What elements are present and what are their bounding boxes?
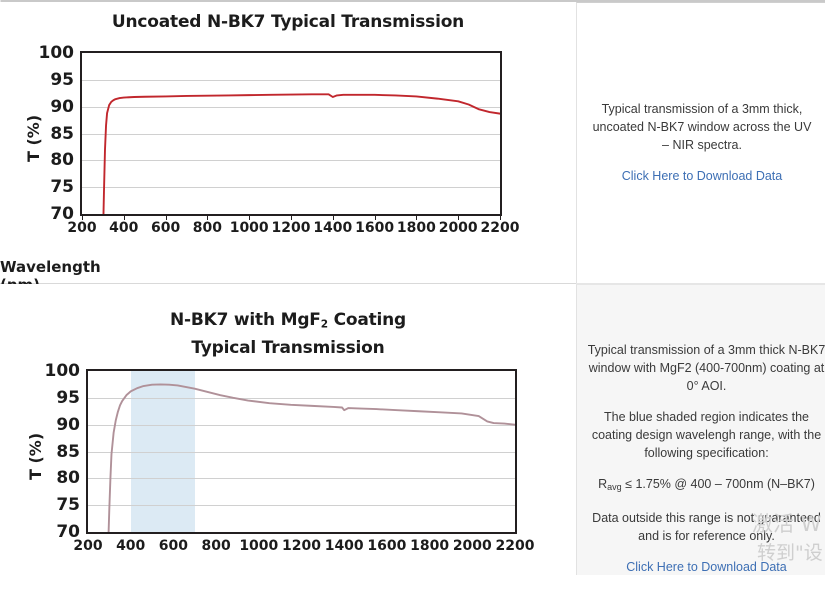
- coated-description-paragraph-3: Data outside this range is not guarantee…: [587, 509, 825, 545]
- x-tick-label: 2200: [490, 539, 540, 553]
- coated-chart-title-line1: N-BK7 with MgF2 Coating: [0, 309, 576, 337]
- spec-rest: ≤ 1.75% @ 400 – 700nm (N–BK7): [622, 477, 815, 491]
- y-tick-label: 80: [44, 470, 80, 487]
- coated-title-subscript: 2: [321, 319, 328, 331]
- x-tick-mark: [333, 216, 334, 220]
- coated-spec-line: Ravg ≤ 1.75% @ 400 – 700nm (N–BK7): [587, 475, 825, 496]
- uncoated-description-text: Typical transmission of a 3mm thick, unc…: [591, 100, 813, 198]
- coated-plot-box: [86, 369, 517, 534]
- coated-title-pre: N-BK7 with MgF: [170, 310, 321, 330]
- uncoated-download-link[interactable]: Click Here to Download Data: [591, 167, 813, 185]
- transmission-curve: [82, 53, 500, 214]
- coated-y-axis-label: T (%): [26, 433, 45, 480]
- x-tick-mark: [166, 216, 167, 220]
- coated-chart-title: N-BK7 with MgF2 Coating Typical Transmis…: [0, 309, 576, 360]
- coated-description-paragraph-1: Typical transmission of a 3mm thick N-BK…: [587, 341, 825, 395]
- coated-chart-panel: N-BK7 with MgF2 Coating Typical Transmis…: [0, 284, 576, 575]
- y-tick-label: 90: [38, 99, 74, 116]
- y-tick-label: 100: [44, 363, 80, 380]
- coated-description-panel: Typical transmission of a 3mm thick N-BK…: [576, 284, 825, 575]
- coated-title-post: Coating: [328, 310, 406, 330]
- y-tick-label: 95: [38, 72, 74, 89]
- coated-download-link[interactable]: Click Here to Download Data: [587, 558, 825, 576]
- uncoated-chart-panel: Uncoated N-BK7 Typical Transmission T (%…: [0, 2, 576, 283]
- x-tick-mark: [458, 216, 459, 220]
- uncoated-description-paragraph: Typical transmission of a 3mm thick, unc…: [591, 100, 813, 154]
- spec-subscript: avg: [607, 482, 622, 492]
- coated-description-text: Typical transmission of a 3mm thick N-BK…: [587, 341, 825, 589]
- spec-prefix: R: [598, 477, 607, 491]
- coated-description-paragraph-2: The blue shaded region indicates the coa…: [587, 408, 825, 462]
- x-tick-mark: [124, 216, 125, 220]
- y-tick-label: 75: [44, 497, 80, 514]
- uncoated-description-panel: Typical transmission of a 3mm thick, unc…: [576, 2, 825, 283]
- y-tick-label: 90: [44, 417, 80, 434]
- x-tick-mark: [375, 216, 376, 220]
- y-tick-label: 85: [44, 444, 80, 461]
- x-tick-mark: [249, 216, 250, 220]
- coated-chart-title-line2: Typical Transmission: [0, 337, 576, 360]
- uncoated-plot-box: [80, 51, 502, 216]
- y-tick-label: 80: [38, 152, 74, 169]
- x-tick-mark: [207, 216, 208, 220]
- x-tick-mark: [500, 216, 501, 220]
- x-tick-mark: [416, 216, 417, 220]
- page-root: Uncoated N-BK7 Typical Transmission T (%…: [0, 0, 825, 575]
- y-tick-label: 85: [38, 126, 74, 143]
- uncoated-chart-title: Uncoated N-BK7 Typical Transmission: [0, 12, 576, 32]
- transmission-curve: [88, 371, 515, 532]
- y-tick-label: 100: [38, 45, 74, 62]
- x-tick-mark: [291, 216, 292, 220]
- x-tick-label: 2200: [475, 221, 525, 235]
- x-tick-mark: [82, 216, 83, 220]
- y-tick-label: 95: [44, 390, 80, 407]
- y-tick-label: 75: [38, 179, 74, 196]
